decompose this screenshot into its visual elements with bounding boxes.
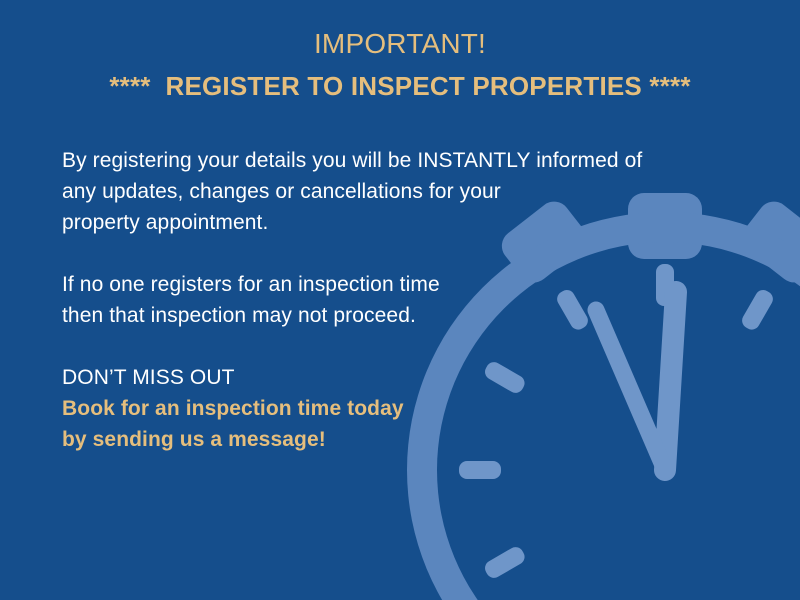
paragraph2-line2: then that inspection may not proceed. bbox=[62, 300, 722, 331]
paragraph1-line3: property appointment. bbox=[62, 207, 722, 238]
paragraph-registering-details: By registering your details you will be … bbox=[62, 145, 722, 238]
paragraph1-line2: any updates, changes or cancellations fo… bbox=[62, 176, 722, 207]
paragraph1-line1: By registering your details you will be … bbox=[62, 145, 722, 176]
paragraph-spacer-2 bbox=[62, 331, 722, 362]
heading-block: IMPORTANT! **** REGISTER TO INSPECT PROP… bbox=[0, 26, 800, 104]
call-to-action-block: DON’T MISS OUT Book for an inspection ti… bbox=[62, 362, 722, 455]
paragraph-spacer-1 bbox=[62, 238, 722, 269]
paragraph-no-registrations: If no one registers for an inspection ti… bbox=[62, 269, 722, 331]
cta-book-inspection: Book for an inspection time today bbox=[62, 393, 722, 424]
cta-send-message: by sending us a message! bbox=[62, 424, 722, 455]
cta-dont-miss-out: DON’T MISS OUT bbox=[62, 362, 722, 393]
promotional-slide: IMPORTANT! **** REGISTER TO INSPECT PROP… bbox=[0, 0, 800, 600]
body-block: By registering your details you will be … bbox=[62, 145, 722, 455]
heading-register-to-inspect: **** REGISTER TO INSPECT PROPERTIES **** bbox=[0, 68, 800, 104]
heading-important: IMPORTANT! bbox=[0, 26, 800, 62]
paragraph2-line1: If no one registers for an inspection ti… bbox=[62, 269, 722, 300]
slide-text-content: IMPORTANT! **** REGISTER TO INSPECT PROP… bbox=[0, 0, 800, 600]
